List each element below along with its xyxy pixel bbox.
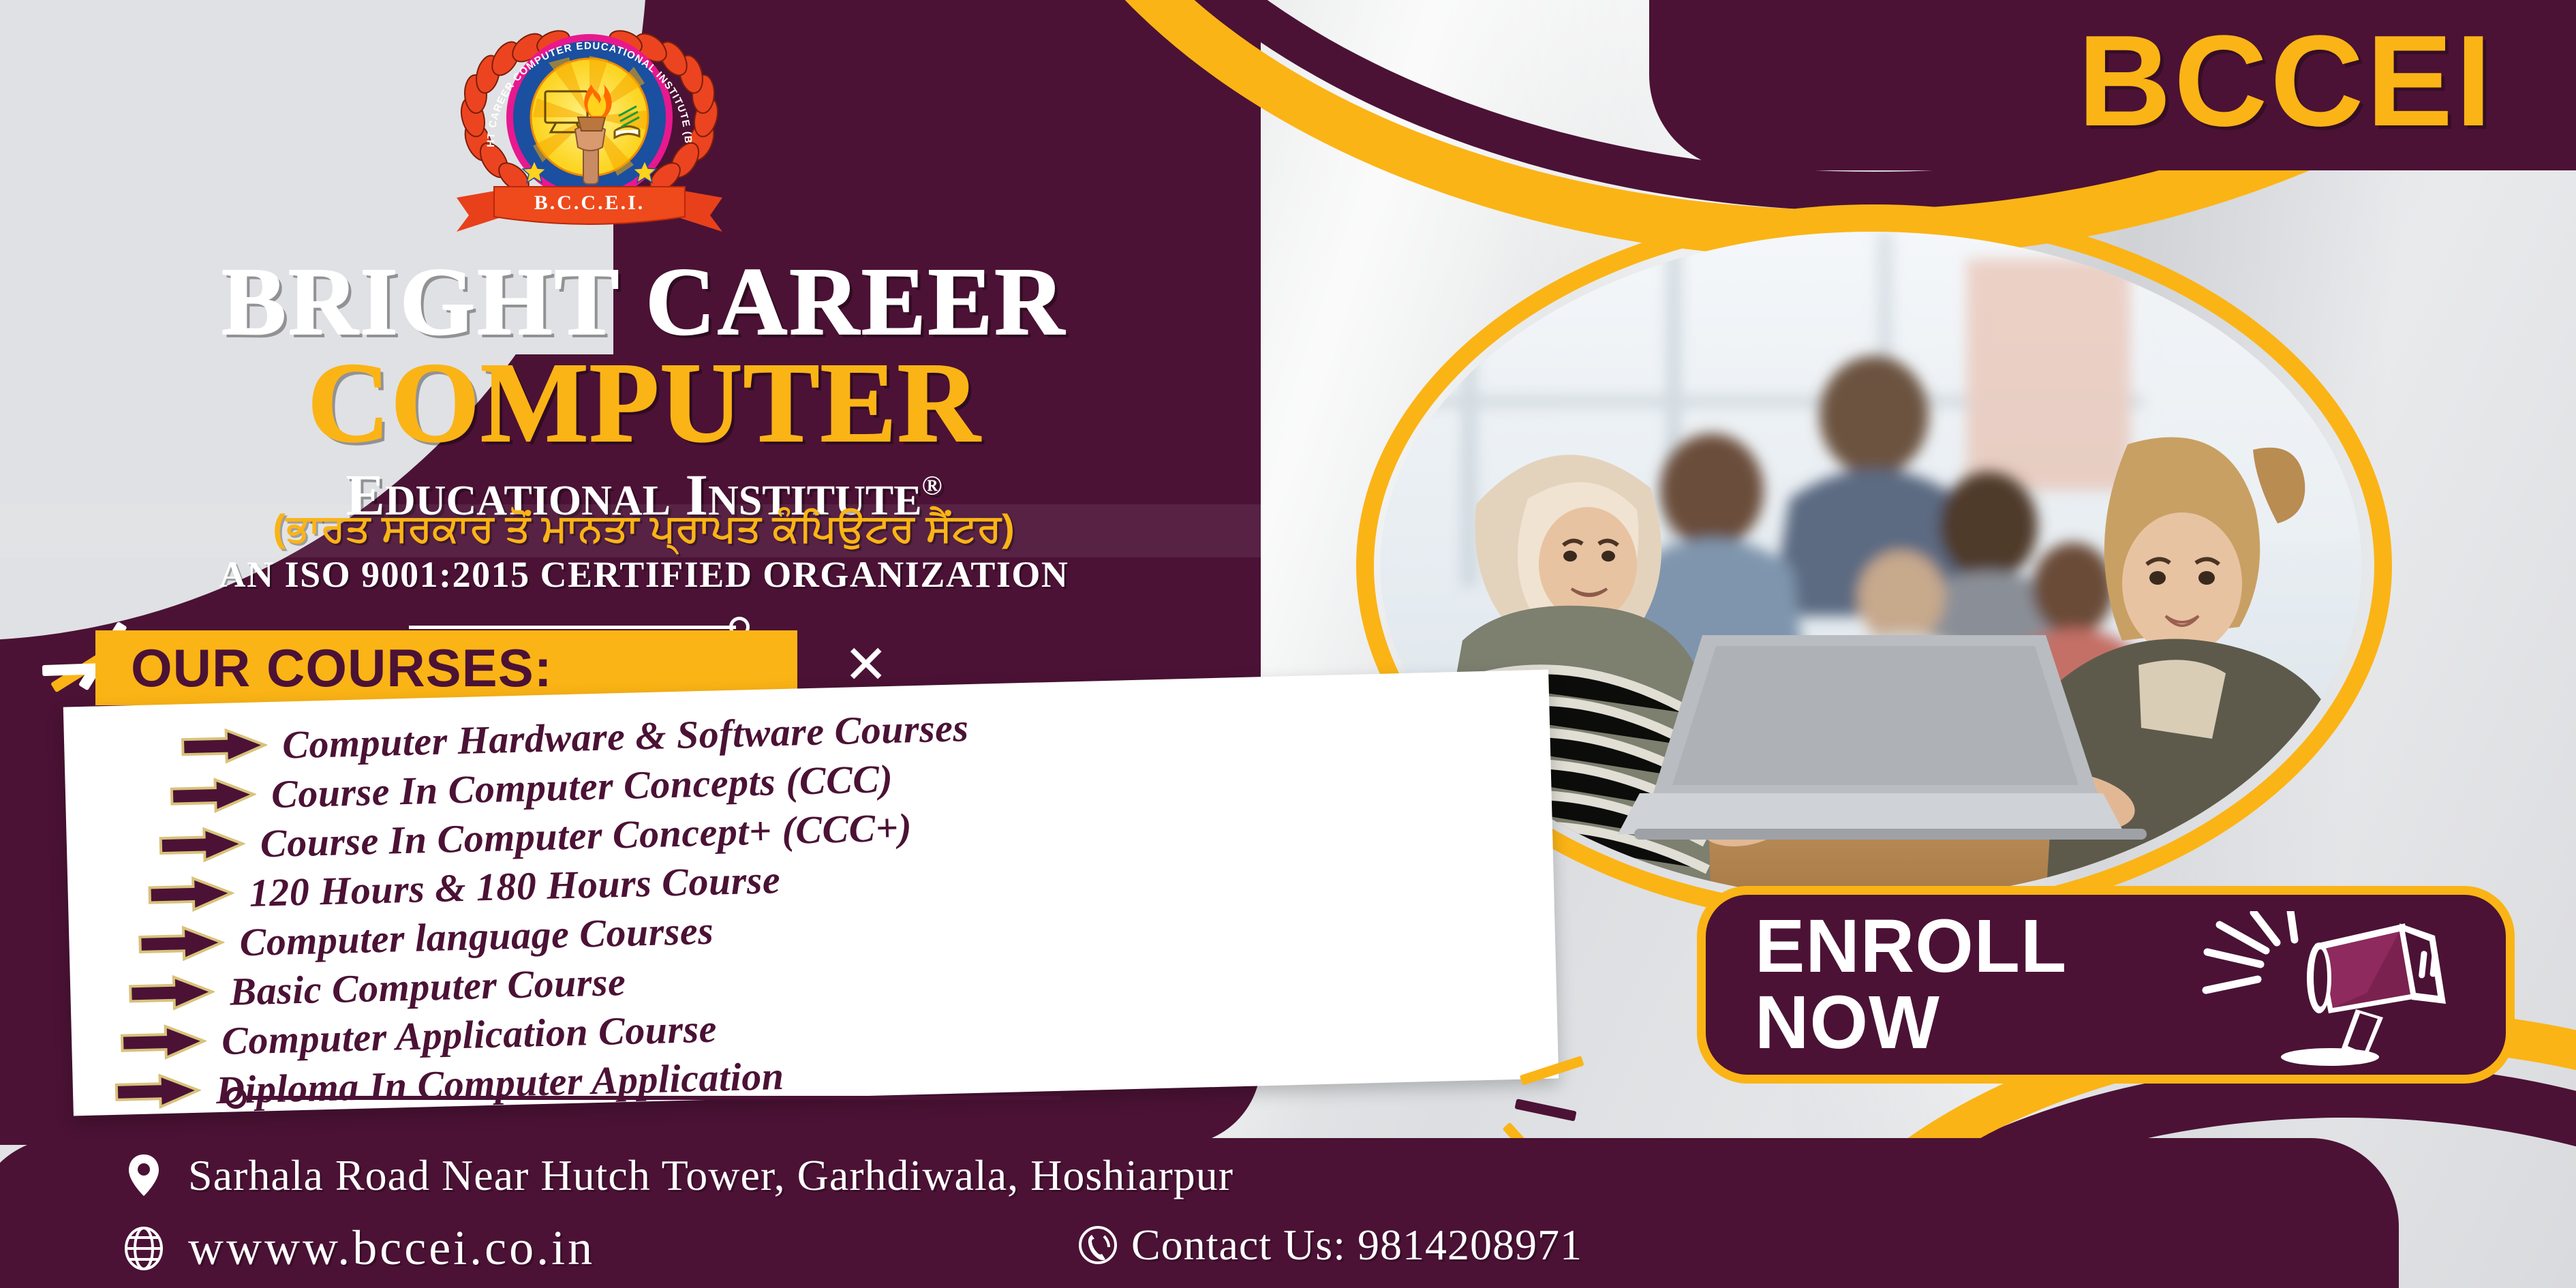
arrow-right-icon bbox=[113, 1072, 201, 1111]
location-pin-icon bbox=[123, 1152, 165, 1199]
ray-maroon-1 bbox=[1514, 1099, 1576, 1121]
arrow-right-icon bbox=[119, 1023, 207, 1062]
our-courses-label: OUR COURSES: bbox=[95, 637, 553, 699]
course-label: Computer language Courses bbox=[239, 907, 714, 965]
iso-certification-line: AN ISO 9001:2015 CERTIFIED ORGANIZATION bbox=[0, 553, 1288, 596]
divider-bottom-line bbox=[244, 1096, 1062, 1100]
enroll-line-2: NOW bbox=[1755, 985, 2067, 1061]
arrow-right-icon bbox=[157, 825, 245, 864]
arrow-right-icon bbox=[147, 874, 234, 913]
footer-address-row: Sarhala Road Near Hutch Tower, Garhdiwal… bbox=[123, 1150, 1233, 1201]
footer-website-row[interactable]: wwww.bccei.co.in bbox=[123, 1220, 595, 1276]
arrow-right-icon bbox=[180, 726, 268, 765]
address-text: Sarhala Road Near Hutch Tower, Garhdiwal… bbox=[188, 1150, 1233, 1201]
enroll-now-label: ENROLL NOW bbox=[1755, 908, 2067, 1061]
enroll-line-1: ENROLL bbox=[1755, 908, 2067, 985]
brand-line-bright-career: BRIGHT CAREER bbox=[0, 252, 1288, 351]
website-text: wwww.bccei.co.in bbox=[188, 1220, 595, 1276]
brand-line-computer: COMPUTER bbox=[0, 347, 1288, 459]
brand-abbreviation: BCCEI bbox=[2078, 7, 2494, 155]
megaphone-icon bbox=[2195, 911, 2461, 1068]
course-label: Basic Computer Course bbox=[230, 958, 626, 1014]
crest-ribbon-text: B.C.C.E.I. bbox=[534, 191, 645, 214]
enroll-now-button[interactable]: ENROLL NOW bbox=[1697, 886, 2515, 1084]
courses-card: Computer Hardware & Software Courses Cou… bbox=[63, 670, 1559, 1116]
divider-top-line bbox=[409, 626, 736, 629]
brand-headline: BRIGHT CAREER COMPUTER EDUCATIONAL INSTI… bbox=[0, 252, 1288, 527]
contact-text: Contact Us: 9814208971 bbox=[1131, 1220, 1582, 1270]
footer-contact-row[interactable]: Contact Us: 9814208971 bbox=[1077, 1220, 1582, 1270]
divider-bottom bbox=[225, 1087, 1077, 1110]
arrow-right-icon bbox=[137, 924, 225, 963]
globe-icon bbox=[123, 1225, 165, 1272]
phone-icon bbox=[1077, 1221, 1119, 1269]
institute-crest-logo: BRIGHT CAREER COMPUTER EDUCATIONAL INSTI… bbox=[429, 15, 750, 247]
registered-trademark-mark: ® bbox=[922, 470, 942, 501]
punjabi-tagline: (ਭਾਰਤ ਸਰਕਾਰ ਤੋਂ ਮਾਨਤਾ ਪ੍ਰਾਪਤ ਕੰਪਿਉਟਰ ਸੈਂ… bbox=[0, 506, 1288, 551]
arrow-right-icon bbox=[127, 973, 215, 1012]
promotional-banner: BCCEI bbox=[0, 0, 2576, 1288]
arrow-right-icon bbox=[168, 776, 256, 815]
courses-list: Computer Hardware & Software Courses Cou… bbox=[63, 670, 1559, 1116]
